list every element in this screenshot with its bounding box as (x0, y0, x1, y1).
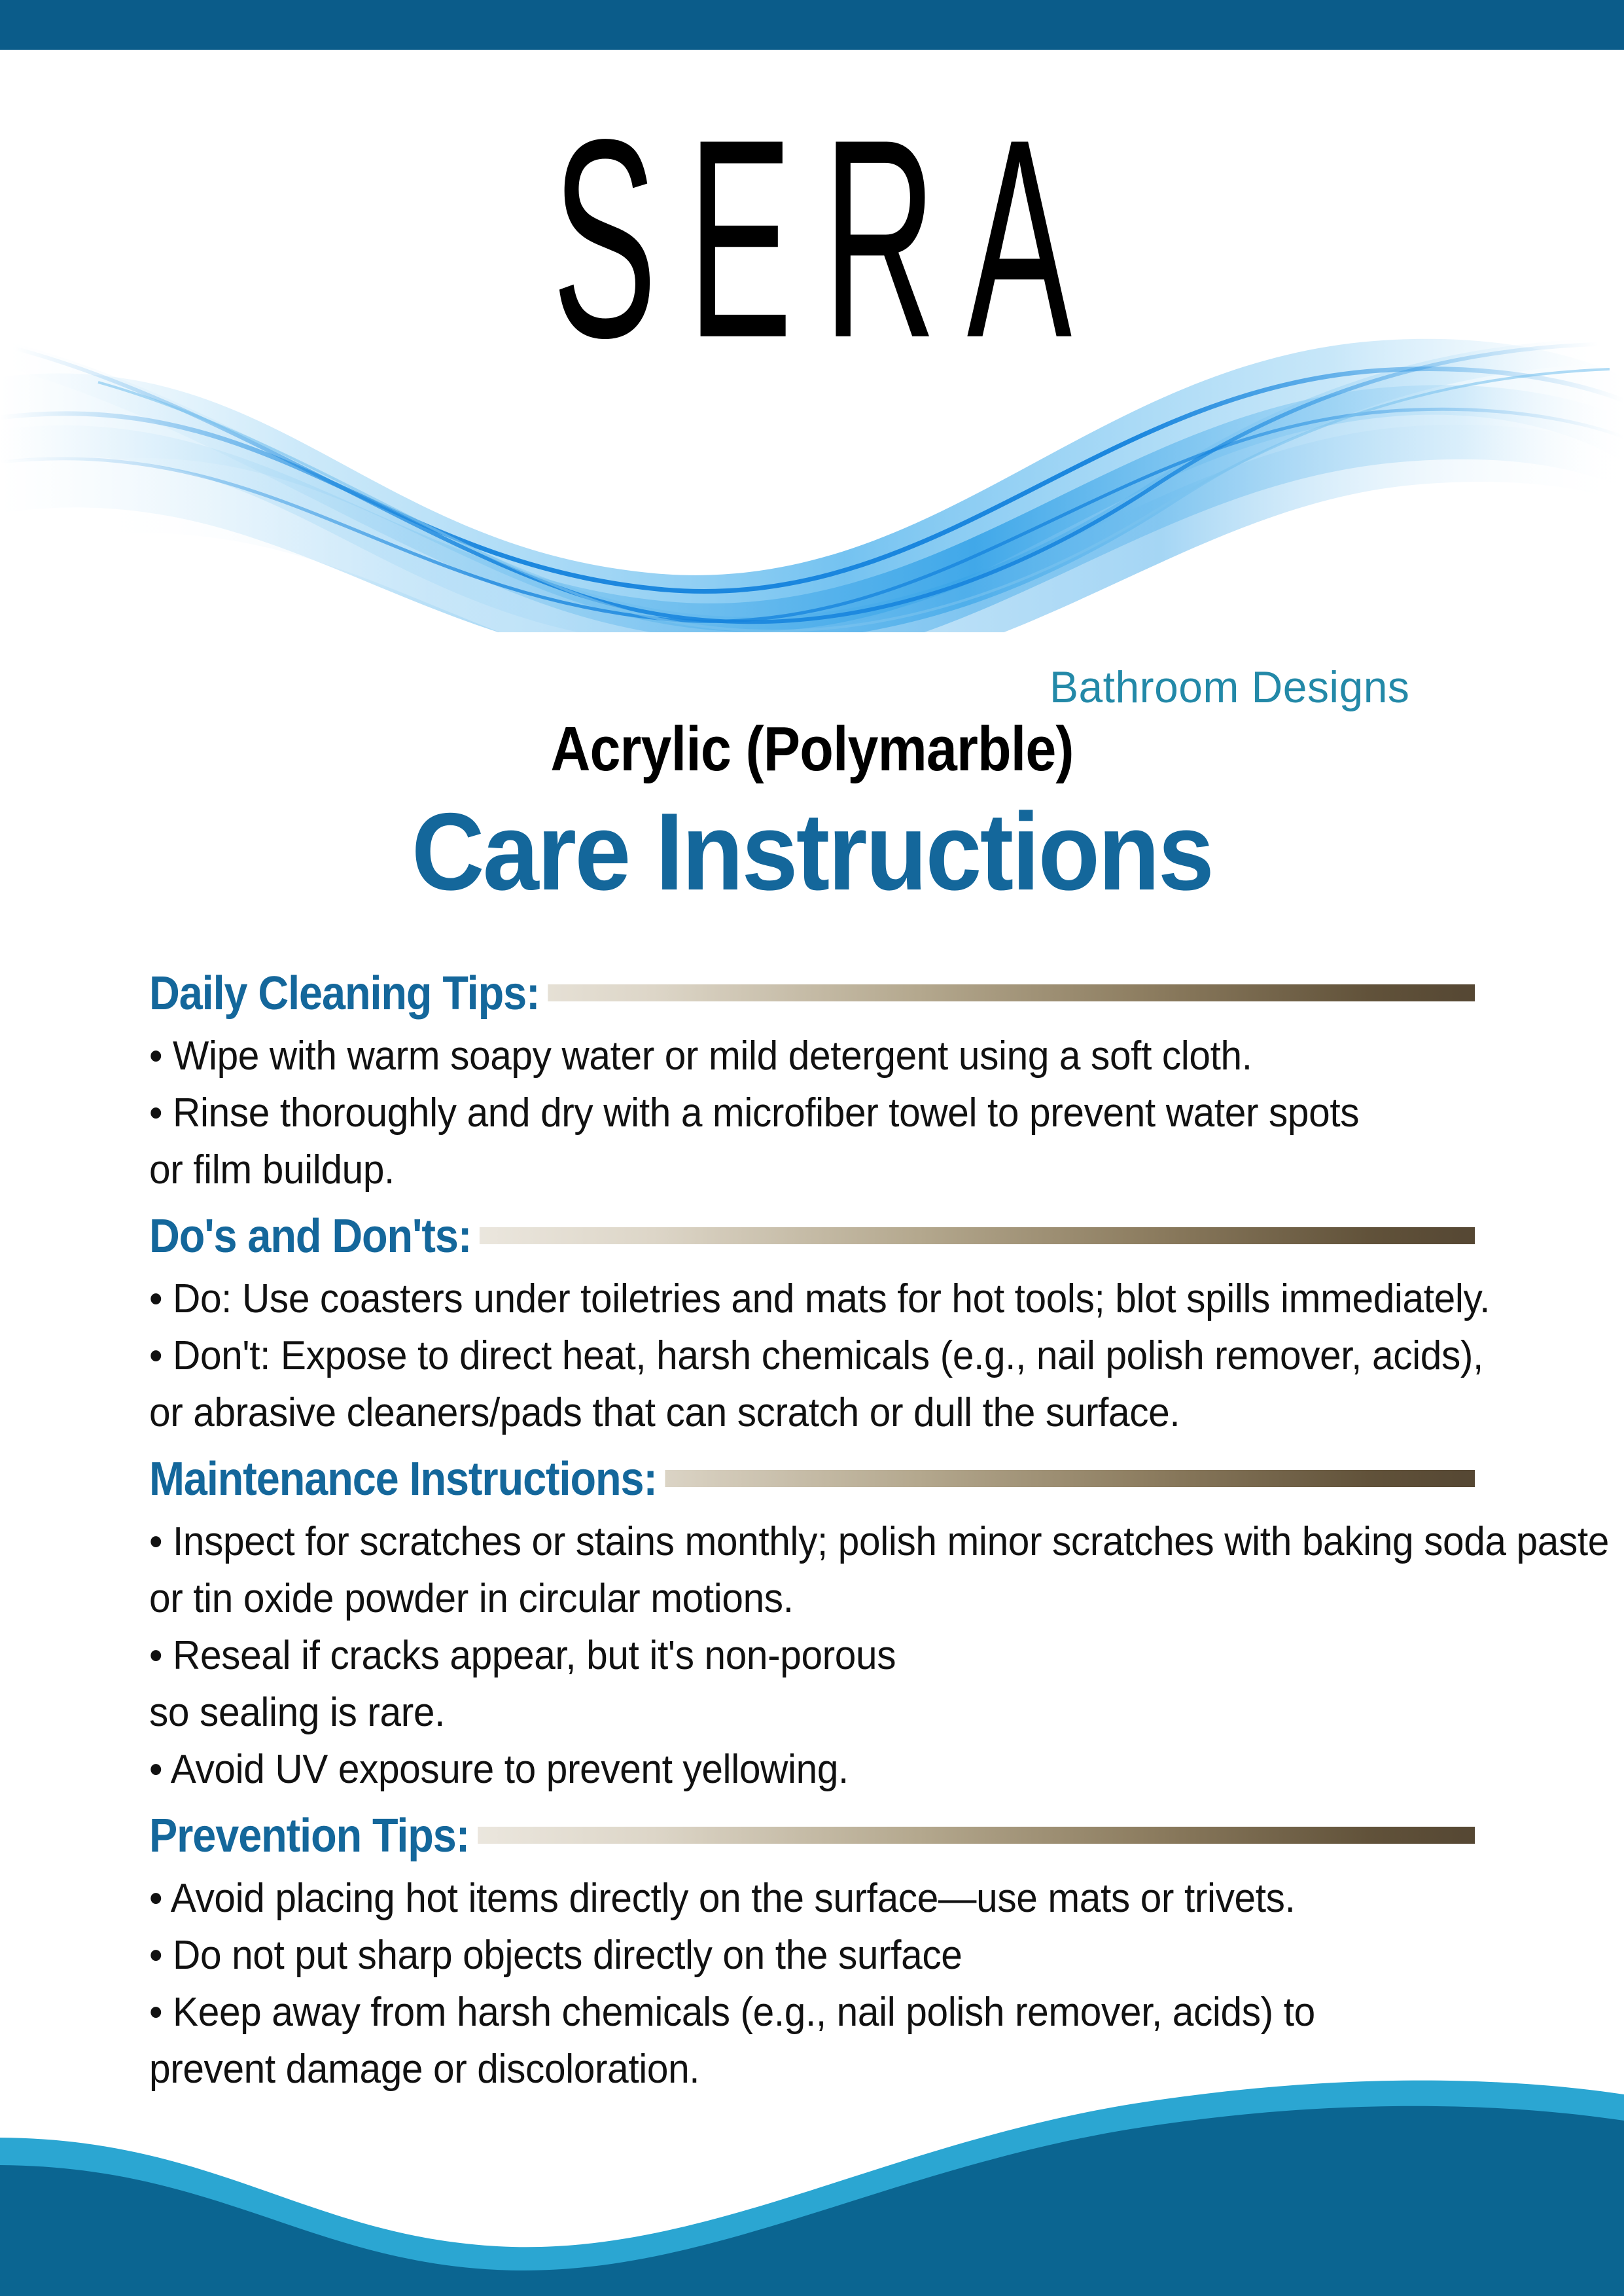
footer-wave-graphic (0, 2060, 1624, 2296)
section-daily-cleaning-tips: Daily Cleaning Tips: • Wipe with warm so… (149, 962, 1484, 1198)
section-body: • Wipe with warm soapy water or mild det… (149, 1028, 1484, 1198)
body-line: or abrasive cleaners/pads that can scrat… (149, 1384, 1411, 1441)
brand-header: SERA (0, 50, 1624, 704)
section-prevention-tips: Prevention Tips: • Avoid placing hot ite… (149, 1804, 1484, 2098)
section-dos-and-donts: Do's and Don'ts: • Do: Use coasters unde… (149, 1205, 1484, 1441)
body-line: • Avoid placing hot items directly on th… (149, 1870, 1411, 1927)
instructions-content: Daily Cleaning Tips: • Wipe with warm so… (149, 962, 1484, 2104)
section-heading-text: Do's and Don'ts: (149, 1205, 480, 1268)
section-body: • Inspect for scratches or stains monthl… (149, 1513, 1484, 1798)
body-line: or film buildup. (149, 1141, 1411, 1198)
section-heading-text: Daily Cleaning Tips: (149, 962, 548, 1025)
page-title: Care Instructions (65, 789, 1559, 915)
body-line: • Reseal if cracks appear, but it's non-… (149, 1627, 1411, 1684)
body-line: so sealing is rare. (149, 1684, 1411, 1741)
brand-wordmark: SERA (325, 109, 1299, 368)
body-line: • Keep away from harsh chemicals (e.g., … (149, 1984, 1411, 2041)
section-header: Do's and Don'ts: (149, 1205, 1484, 1268)
body-line: • Don't: Expose to direct heat, harsh ch… (149, 1327, 1411, 1384)
body-line: • Do: Use coasters under toiletries and … (149, 1270, 1411, 1327)
section-heading-text: Maintenance Instructions: (149, 1448, 665, 1511)
body-line: • Inspect for scratches or stains monthl… (149, 1513, 1411, 1570)
body-line: • Do not put sharp objects directly on t… (149, 1927, 1411, 1984)
section-header: Prevention Tips: (149, 1804, 1484, 1867)
body-line: • Wipe with warm soapy water or mild det… (149, 1028, 1411, 1085)
section-maintenance-instructions: Maintenance Instructions: • Inspect for … (149, 1448, 1484, 1798)
brand-tagline: Bathroom Designs (1050, 662, 1409, 713)
body-line: • Rinse thoroughly and dry with a microf… (149, 1085, 1411, 1141)
body-line: • Avoid UV exposure to prevent yellowing… (149, 1741, 1411, 1798)
section-header: Daily Cleaning Tips: (149, 962, 1484, 1025)
section-body: • Do: Use coasters under toiletries and … (149, 1270, 1484, 1441)
body-line: or tin oxide powder in circular motions. (149, 1570, 1411, 1627)
top-accent-bar (0, 0, 1624, 50)
document-subtitle: Acrylic (Polymarble) (97, 713, 1527, 785)
section-heading-text: Prevention Tips: (149, 1804, 478, 1867)
section-header: Maintenance Instructions: (149, 1448, 1484, 1511)
